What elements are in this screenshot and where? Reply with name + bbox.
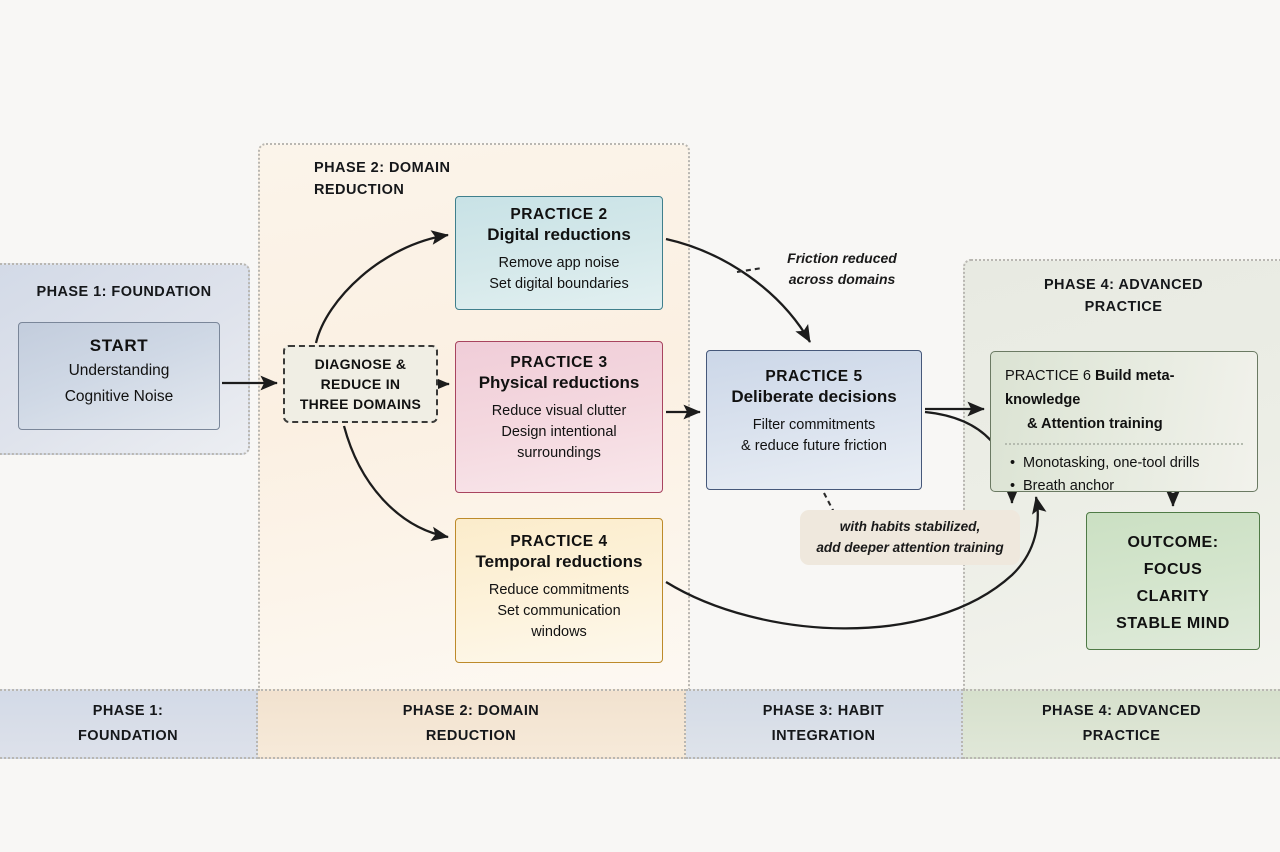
phase-strip-cell-3-line-2: INTEGRATION [772, 724, 876, 749]
practice-3-detail-3: surroundings [456, 443, 662, 464]
phase-strip-cell-3-line-1: PHASE 3: HABIT [763, 699, 885, 724]
node-start-line-1: Understanding [19, 360, 219, 382]
phase-strip-cell-4-line-2: PRACTICE [1083, 724, 1161, 749]
node-diagnose-line-3: THREE DOMAINS [285, 394, 436, 414]
outcome-line-1: OUTCOME: [1087, 529, 1259, 556]
node-practice-2-digital-reductions[interactable]: PRACTICE 2 Digital reductions Remove app… [455, 196, 663, 310]
node-outcome[interactable]: OUTCOME: FOCUS CLARITY STABLE MIND [1086, 512, 1260, 650]
edge-label-friction-reduced: Friction reduced across domains [762, 248, 922, 290]
phase-strip-cell-1: PHASE 1: FOUNDATION [0, 689, 258, 759]
region-phase-1-title: PHASE 1: FOUNDATION [0, 281, 248, 303]
node-start[interactable]: START Understanding Cognitive Noise [18, 322, 220, 430]
practice-2-number: PRACTICE 2 [456, 206, 662, 224]
practice-5-name: Deliberate decisions [707, 387, 921, 407]
edge-friction-label-leader [737, 268, 762, 272]
practice-4-detail-1: Reduce commitments [456, 580, 662, 601]
practice-6-divider [1005, 443, 1243, 445]
outcome-line-3: CLARITY [1087, 583, 1259, 610]
diagram-canvas: PHASE 1: FOUNDATION PHASE 2: DOMAIN REDU… [0, 0, 1280, 852]
node-start-title: START [19, 336, 219, 356]
region-phase-4-title: PHASE 4: ADVANCED PRACTICE [965, 274, 1280, 318]
practice-2-name: Digital reductions [456, 225, 662, 245]
practice-6-name-line-2: & Attention training [1005, 412, 1245, 436]
practice-6-bullet-list: Monotasking, one-tool drills Breath anch… [1005, 452, 1245, 498]
phase-strip-cell-3: PHASE 3: HABIT INTEGRATION [686, 689, 963, 759]
practice-2-detail-2: Set digital boundaries [456, 274, 662, 295]
edge-label-habits-line-2: add deeper attention training [806, 537, 1014, 558]
phase-timeline-strip: PHASE 1: FOUNDATION PHASE 2: DOMAIN REDU… [0, 689, 1280, 759]
list-item: Breath anchor [1023, 475, 1245, 498]
phase-strip-cell-4-line-1: PHASE 4: ADVANCED [1042, 699, 1201, 724]
edge-label-habits-line-1: with habits stabilized, [806, 516, 1014, 537]
practice-6-number: PRACTICE 6 [1005, 368, 1091, 384]
phase-strip-cell-1-line-1: PHASE 1: [93, 699, 163, 724]
practice-2-detail-1: Remove app noise [456, 253, 662, 274]
practice-4-name: Temporal reductions [456, 552, 662, 572]
practice-4-detail-3: windows [456, 622, 662, 643]
phase-strip-cell-2: PHASE 2: DOMAIN REDUCTION [258, 689, 686, 759]
practice-4-number: PRACTICE 4 [456, 533, 662, 551]
practice-5-detail-2: & reduce future friction [707, 436, 921, 457]
node-practice-4-temporal-reductions[interactable]: PRACTICE 4 Temporal reductions Reduce co… [455, 518, 663, 663]
practice-3-number: PRACTICE 3 [456, 354, 662, 372]
phase-strip-cell-1-line-2: FOUNDATION [78, 724, 178, 749]
phase-strip-cell-2-line-2: REDUCTION [426, 724, 516, 749]
practice-3-detail-2: Design intentional [456, 422, 662, 443]
node-diagnose-reduce[interactable]: DIAGNOSE & REDUCE IN THREE DOMAINS [283, 345, 438, 423]
practice-4-detail-2: Set communication [456, 601, 662, 622]
edge-label-habits-stabilized: with habits stabilized, add deeper atten… [800, 510, 1020, 565]
node-diagnose-line-2: REDUCE IN [285, 374, 436, 394]
outcome-line-4: STABLE MIND [1087, 610, 1259, 637]
edge-label-friction-line-1: Friction reduced [762, 248, 922, 269]
practice-3-detail-1: Reduce visual clutter [456, 401, 662, 422]
practice-5-detail-1: Filter commitments [707, 415, 921, 436]
edge-label-friction-line-2: across domains [762, 269, 922, 290]
phase-strip-cell-4: PHASE 4: ADVANCED PRACTICE [963, 689, 1280, 759]
region-phase-2-title: PHASE 2: DOMAIN REDUCTION [260, 157, 450, 201]
node-practice-6-meta-knowledge[interactable]: PRACTICE 6 Build meta-knowledge & Attent… [990, 351, 1258, 492]
node-practice-3-physical-reductions[interactable]: PRACTICE 3 Physical reductions Reduce vi… [455, 341, 663, 493]
node-practice-5-deliberate-decisions[interactable]: PRACTICE 5 Deliberate decisions Filter c… [706, 350, 922, 490]
node-start-line-2: Cognitive Noise [19, 386, 219, 408]
practice-5-number: PRACTICE 5 [707, 368, 921, 386]
list-item: Monotasking, one-tool drills [1023, 452, 1245, 475]
practice-6-heading: PRACTICE 6 Build meta-knowledge & Attent… [1005, 364, 1245, 436]
phase-strip-cell-2-line-1: PHASE 2: DOMAIN [403, 699, 539, 724]
practice-3-name: Physical reductions [456, 373, 662, 393]
node-diagnose-line-1: DIAGNOSE & [285, 354, 436, 374]
outcome-line-2: FOCUS [1087, 556, 1259, 583]
